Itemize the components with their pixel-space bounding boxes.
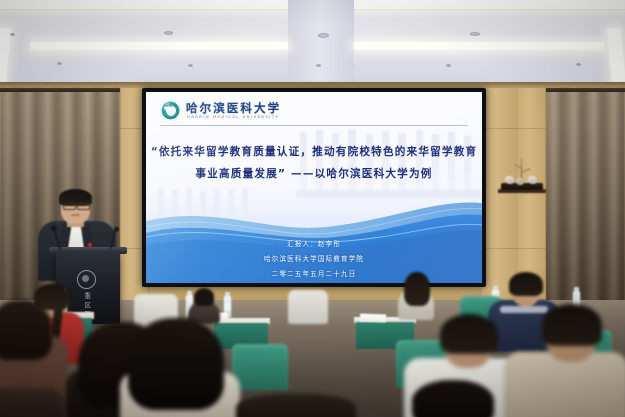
audience-member-hair xyxy=(128,318,224,410)
conference-room-photo: HMU 哈尔滨医科大学 HARBIN MEDICAL UNIVERSITY “依… xyxy=(0,0,625,417)
foreground-blur-person xyxy=(236,394,356,417)
audience-member-hair xyxy=(0,300,52,360)
audience-member-hair xyxy=(412,380,494,417)
audience-member-hair xyxy=(440,314,498,354)
audience-member-torso xyxy=(0,388,64,417)
audience-member-hair xyxy=(542,304,602,346)
audience-front-row xyxy=(0,0,625,417)
